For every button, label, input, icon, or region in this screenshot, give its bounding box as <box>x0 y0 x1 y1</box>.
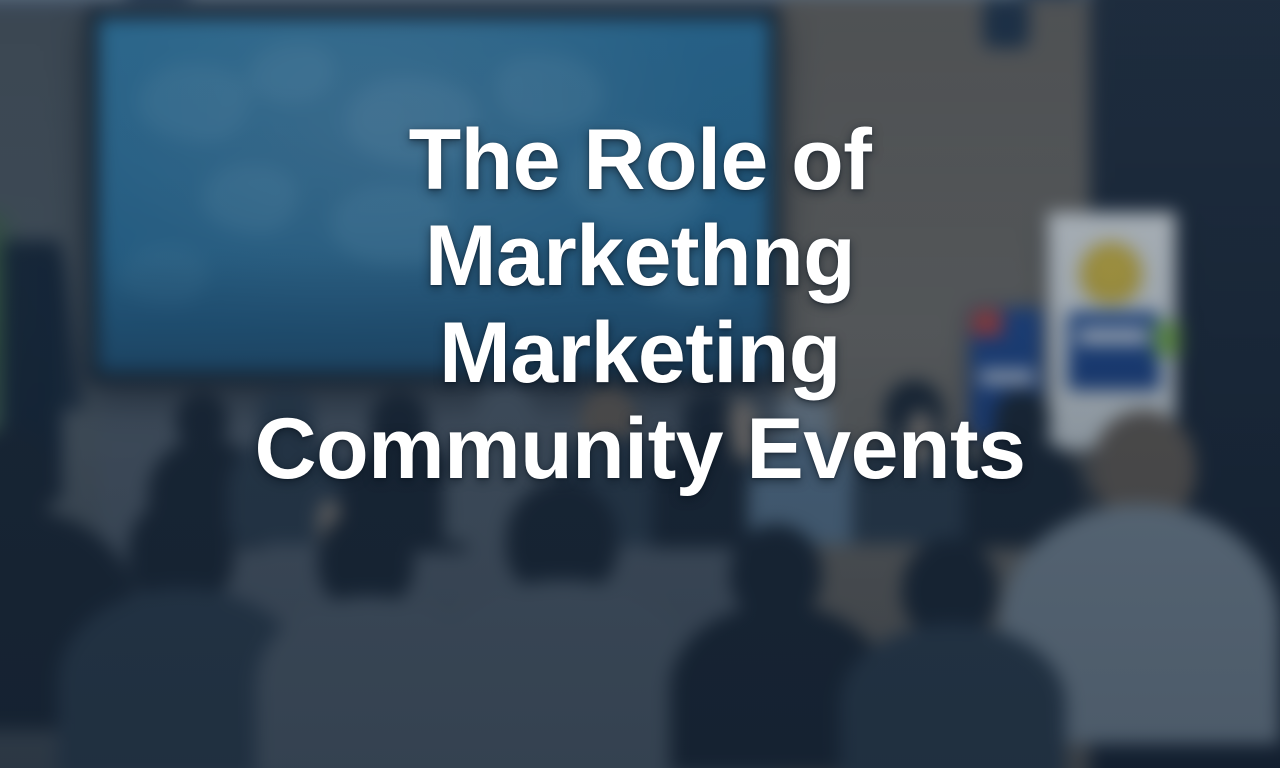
title-line-1: The Role of <box>150 112 1130 208</box>
title-line-4: Community Events <box>150 401 1130 497</box>
header-image: The Role of Markethng Marketing Communit… <box>0 0 1280 768</box>
page-title: The Role of Markethng Marketing Communit… <box>150 112 1130 497</box>
title-line-2: Markethng <box>150 208 1130 304</box>
headline-overlay: The Role of Markethng Marketing Communit… <box>0 0 1280 768</box>
title-line-3: Marketing <box>150 305 1130 401</box>
